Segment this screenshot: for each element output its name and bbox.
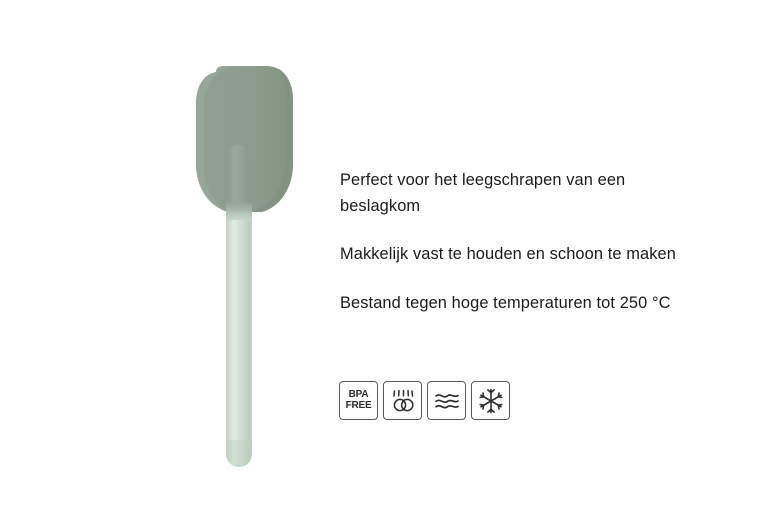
bpa-free-icon: BPA FREE [339, 381, 378, 420]
feature-item-1: Perfect voor het leegschrapen van een be… [340, 168, 740, 219]
feature-item-2: Makkelijk vast te houden en schoon te ma… [340, 242, 740, 268]
head-handle-joint [226, 202, 252, 220]
handle-tip-shading [226, 440, 252, 467]
feature-list: Perfect voor het leegschrapen van een be… [340, 168, 740, 316]
product-image [40, 16, 360, 528]
freezer-safe-icon [471, 381, 510, 420]
bpa-free-label: BPA FREE [346, 390, 372, 411]
product-feature-panel: Perfect voor het leegschrapen van een be… [0, 0, 768, 512]
dishwasher-safe-icon [383, 381, 422, 420]
heat-resistant-icon [427, 381, 466, 420]
spatula-handle [226, 196, 252, 467]
care-icon-row: BPA FREE [339, 381, 510, 420]
spatula-illustration [40, 16, 360, 528]
feature-item-3: Bestand tegen hoge temperaturen tot 250 … [340, 291, 740, 317]
head-core-ridge [226, 145, 250, 212]
